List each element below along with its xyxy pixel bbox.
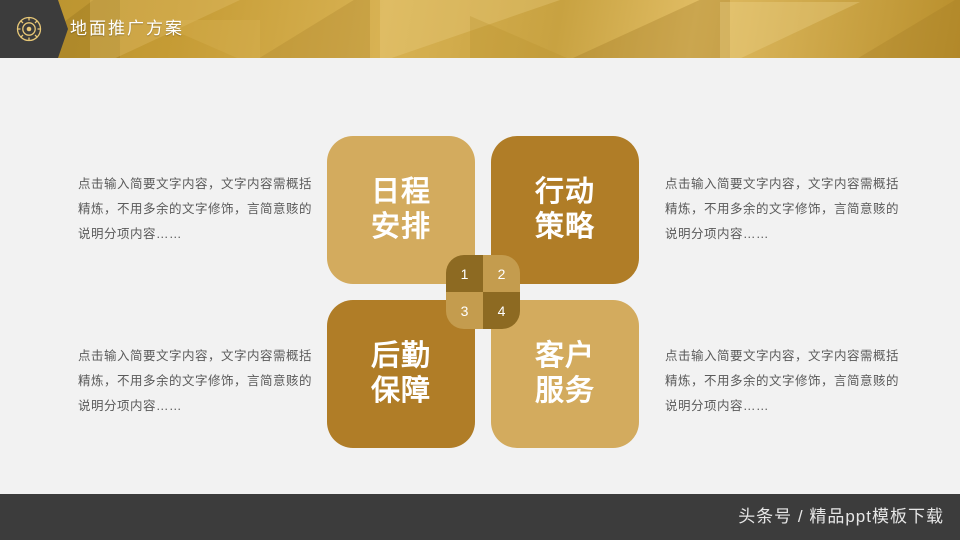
petal-logistics-line2: 保障	[371, 374, 431, 409]
number-badge-2: 2	[483, 255, 520, 292]
banner-facet	[720, 2, 860, 58]
description-top-right: 点击输入简要文字内容，文字内容需概括精炼，不用多余的文字修饰，言简意赅的说明分项…	[665, 172, 907, 247]
petal-logistics-line1: 后勤	[371, 339, 431, 374]
description-bottom-left: 点击输入简要文字内容，文字内容需概括精炼，不用多余的文字修饰，言简意赅的说明分项…	[78, 344, 320, 419]
petal-schedule-line1: 日程	[371, 175, 431, 210]
petal-customer-service-line1: 客户	[535, 339, 595, 374]
description-top-left: 点击输入简要文字内容，文字内容需概括精炼，不用多余的文字修饰，言简意赅的说明分项…	[78, 172, 320, 247]
logo-tab	[0, 0, 58, 58]
footer-watermark: 头条号 / 精品ppt模板下载	[738, 494, 944, 540]
gear-icon	[12, 12, 46, 46]
number-badge-3: 3	[446, 292, 483, 329]
banner-facet	[470, 16, 590, 58]
number-badge-1: 1	[446, 255, 483, 292]
center-number-hub: 1 2 3 4	[446, 255, 520, 329]
slide-canvas: 地面推广方案 日程 安排 行动 策略 后勤 保障 客户 服务	[0, 0, 960, 540]
petal-action-strategy-line2: 策略	[535, 210, 595, 245]
number-badge-4: 4	[483, 292, 520, 329]
banner-facet	[845, 0, 960, 58]
petal-customer-service-line2: 服务	[535, 374, 595, 409]
description-bottom-right: 点击输入简要文字内容，文字内容需概括精炼，不用多余的文字修饰，言简意赅的说明分项…	[665, 344, 907, 419]
page-title: 地面推广方案	[70, 0, 184, 58]
petal-action-strategy-line1: 行动	[535, 175, 595, 210]
petal-schedule-line2: 安排	[371, 210, 431, 245]
petal-diagram: 日程 安排 行动 策略 后勤 保障 客户 服务 1 2 3	[327, 136, 639, 448]
